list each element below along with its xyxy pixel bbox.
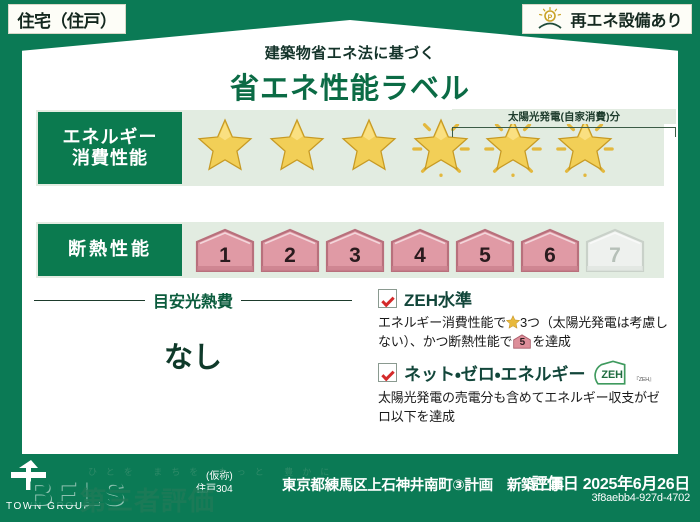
insulation-scale: 1 2 3 4 5 6 7	[184, 228, 646, 272]
rule-right	[241, 300, 352, 301]
claim-net-zero-energy-body: 太陽光発電の売電分も含めてエネルギー収支がゼロ以下を達成	[378, 389, 670, 427]
insulation-house-filled: 2	[259, 228, 321, 272]
insulation-house-empty: 7	[584, 228, 646, 272]
claims-block: ZEH水準 エネルギー消費性能で 3つ（太陽光発電は考慮しない）、かつ断熱性能で…	[378, 286, 670, 434]
label-frame: 住宅（住戸） P 再エネ設備あり 建築物省エネ法に基づく 省エネ性能ラベル	[0, 0, 700, 522]
footer-date-value: 2025年6月26日	[583, 476, 690, 493]
claim-net-zero-energy: ネット・ゼロ・エネルギー ZEH 『ZEH』 太陽光発電の売電分も含めてエネルギ…	[378, 360, 670, 427]
claim-net-zero-energy-head: ネット・ゼロ・エネルギー ZEH 『ZEH』	[378, 360, 670, 386]
zeh-logo-sub: 『ZEH』	[634, 375, 655, 386]
footer-provisional: (仮称)	[196, 471, 233, 484]
building-type-badge: 住宅（住戸）	[8, 4, 126, 34]
star-filled	[190, 113, 260, 183]
claim-net-zero-energy-title: ネット・ゼロ・エネルギー	[404, 360, 586, 385]
title-subtitle: 建築物省エネ法に基づく	[0, 42, 700, 63]
rule-left	[34, 300, 145, 301]
star-solar	[406, 113, 476, 183]
insulation-level-number: 6	[544, 244, 556, 272]
svg-text:P: P	[548, 15, 553, 22]
insulation-house-filled: 6	[519, 228, 581, 272]
insulation-performance-row: 断熱性能 1 2 3 4 5 6	[36, 222, 664, 278]
claim-zeh-standard-head: ZEH水準	[378, 286, 670, 311]
inline-star-icon	[506, 315, 520, 329]
footer-bar: (仮称) 住戸304 東京都練馬区上石神井南町③計画 新築工事 評価日 2025…	[0, 460, 700, 522]
insulation-level-number: 5	[479, 244, 491, 272]
star-filled	[262, 113, 332, 183]
utility-cost-title: 目安光熱費	[153, 288, 233, 312]
insulation-level-number: 2	[284, 244, 296, 272]
solar-sun-icon: P	[535, 7, 565, 31]
claim-zeh-standard-title: ZEH水準	[404, 286, 472, 311]
renewable-equipment-badge: P 再エネ設備あり	[522, 4, 692, 34]
insulation-house-filled: 4	[389, 228, 451, 272]
insulation-performance-body: 1 2 3 4 5 6 7	[184, 222, 664, 278]
insulation-level-number: 4	[414, 244, 426, 272]
footer-id: 3f8aebb4-927d-4702	[591, 492, 690, 504]
inline-house-level: 5	[512, 334, 532, 349]
energy-performance-row: エネルギー 消費性能	[36, 110, 664, 186]
footer-address: 東京都練馬区上石神井南町③計画 新築工事	[282, 474, 564, 495]
insulation-house-filled: 3	[324, 228, 386, 272]
claim-zeh-standard-body: エネルギー消費性能で 3つ（太陽光発電は考慮しない）、かつ断熱性能で 5 を達成	[378, 314, 670, 352]
footer-evaluation-date: 評価日 2025年6月26日	[531, 470, 690, 494]
footer-date-label: 評価日	[531, 476, 578, 493]
renewable-equipment-label: 再エネ設備あり	[570, 7, 682, 31]
insulation-level-number: 3	[349, 244, 361, 272]
insulation-performance-label: 断熱性能	[36, 222, 184, 278]
insulation-level-number: 1	[219, 244, 231, 272]
energy-performance-body: 太陽光発電(自家消費)分	[184, 110, 664, 186]
footer-unit-block: (仮称) 住戸304	[196, 471, 233, 496]
claim-body-post: を達成	[532, 334, 570, 349]
zeh-logo-icon: ZEH 『ZEH』	[593, 360, 655, 386]
insulation-house-filled: 5	[454, 228, 516, 272]
energy-label-line2: 消費性能	[72, 148, 148, 169]
svg-text:ZEH: ZEH	[601, 369, 623, 381]
star-solar	[550, 113, 620, 183]
energy-performance-label: エネルギー 消費性能	[36, 110, 184, 186]
page-title: 省エネ性能ラベル	[0, 65, 700, 107]
footer-unit: 住戸304	[196, 484, 233, 497]
star-rating	[184, 113, 620, 183]
inline-house-icon: 5	[512, 334, 532, 349]
utility-cost-value: なし	[34, 334, 352, 376]
utility-cost-block: 目安光熱費 なし	[34, 288, 352, 376]
claim-zeh-standard: ZEH水準 エネルギー消費性能で 3つ（太陽光発電は考慮しない）、かつ断熱性能で…	[378, 286, 670, 352]
star-filled	[334, 113, 404, 183]
checkbox-net-zero-energy[interactable]	[378, 363, 397, 382]
title-block: 建築物省エネ法に基づく 省エネ性能ラベル	[0, 42, 700, 107]
checkbox-zeh-standard[interactable]	[378, 289, 397, 308]
utility-cost-heading: 目安光熱費	[34, 288, 352, 312]
star-solar	[478, 113, 548, 183]
insulation-level-number: 7	[609, 244, 621, 272]
energy-label-line1: エネルギー	[63, 127, 158, 148]
insulation-house-filled: 1	[194, 228, 256, 272]
claim-body-pre: エネルギー消費性能で	[378, 315, 506, 330]
